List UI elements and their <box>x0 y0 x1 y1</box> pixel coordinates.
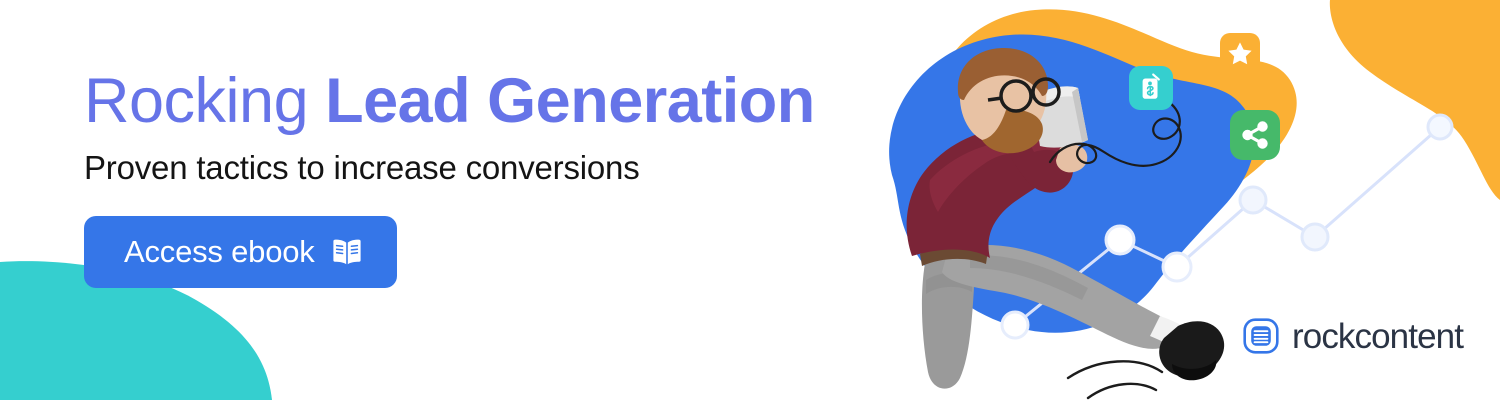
cta-label: Access ebook <box>124 236 315 267</box>
brand-name: rockcontent <box>1292 319 1463 354</box>
rockcontent-logo: rockcontent <box>1243 318 1463 354</box>
chart-node <box>1106 226 1134 254</box>
motion-arc <box>1088 384 1156 398</box>
headline-bold: Lead Generation <box>325 66 815 136</box>
chart-node <box>1428 115 1452 139</box>
access-ebook-button[interactable]: Access ebook <box>84 216 397 288</box>
motion-arcs <box>1068 361 1162 398</box>
chart-node <box>1163 253 1191 281</box>
price-tag-icon <box>1129 66 1173 110</box>
motion-arc <box>1068 361 1162 378</box>
subheadline: Proven tactics to increase conversions <box>84 149 844 187</box>
headline-light: Rocking <box>84 66 308 136</box>
star-icon <box>1220 33 1260 73</box>
promo-banner: Rocking Lead Generation Proven tactics t… <box>0 0 1500 400</box>
chart-node <box>1240 187 1266 213</box>
rockcontent-logo-mark <box>1243 318 1279 354</box>
page-title: Rocking Lead Generation <box>84 68 844 135</box>
banner-content: Rocking Lead Generation Proven tactics t… <box>84 68 844 288</box>
open-book-icon <box>331 238 363 265</box>
chart-node <box>1302 224 1328 250</box>
chart-node <box>1002 312 1028 338</box>
share-icon <box>1230 110 1280 160</box>
